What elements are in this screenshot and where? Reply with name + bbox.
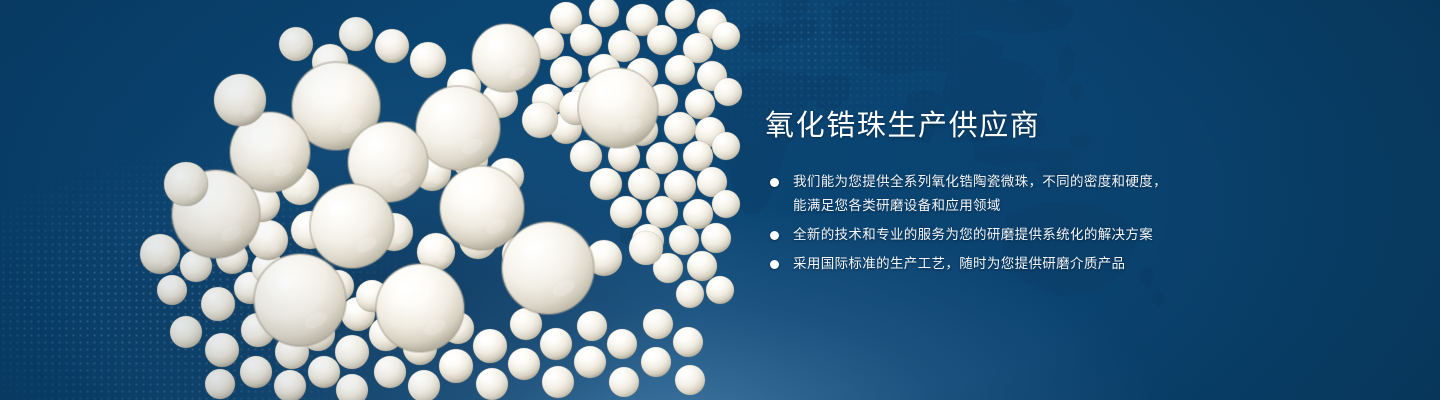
list-item: 全新的技术和专业的服务为您的研磨提供系统化的解决方案 — [765, 223, 1405, 247]
list-item-line: 全新的技术和专业的服务为您的研磨提供系统化的解决方案 — [793, 223, 1405, 247]
bullet-dot-icon — [770, 231, 779, 240]
banner-copy: 氧化锆珠生产供应商 我们能为您提供全系列氧化锆陶瓷微珠，不同的密度和硬度， 能满… — [765, 108, 1405, 276]
list-item-line: 我们能为您提供全系列氧化锆陶瓷微珠，不同的密度和硬度， — [793, 170, 1405, 194]
hero-banner: 氧化锆珠生产供应商 我们能为您提供全系列氧化锆陶瓷微珠，不同的密度和硬度， 能满… — [0, 0, 1440, 400]
list-item-line: 能满足您各类研磨设备和应用领域 — [793, 194, 1405, 218]
feature-list: 我们能为您提供全系列氧化锆陶瓷微珠，不同的密度和硬度， 能满足您各类研磨设备和应… — [765, 170, 1405, 276]
list-item: 采用国际标准的生产工艺，随时为您提供研磨介质产品 — [765, 252, 1405, 276]
bullet-dot-icon — [770, 260, 779, 269]
bullet-dot-icon — [770, 178, 779, 187]
page-title: 氧化锆珠生产供应商 — [765, 108, 1405, 144]
list-item: 我们能为您提供全系列氧化锆陶瓷微珠，不同的密度和硬度， 能满足您各类研磨设备和应… — [765, 170, 1405, 218]
list-item-line: 采用国际标准的生产工艺，随时为您提供研磨介质产品 — [793, 252, 1405, 276]
